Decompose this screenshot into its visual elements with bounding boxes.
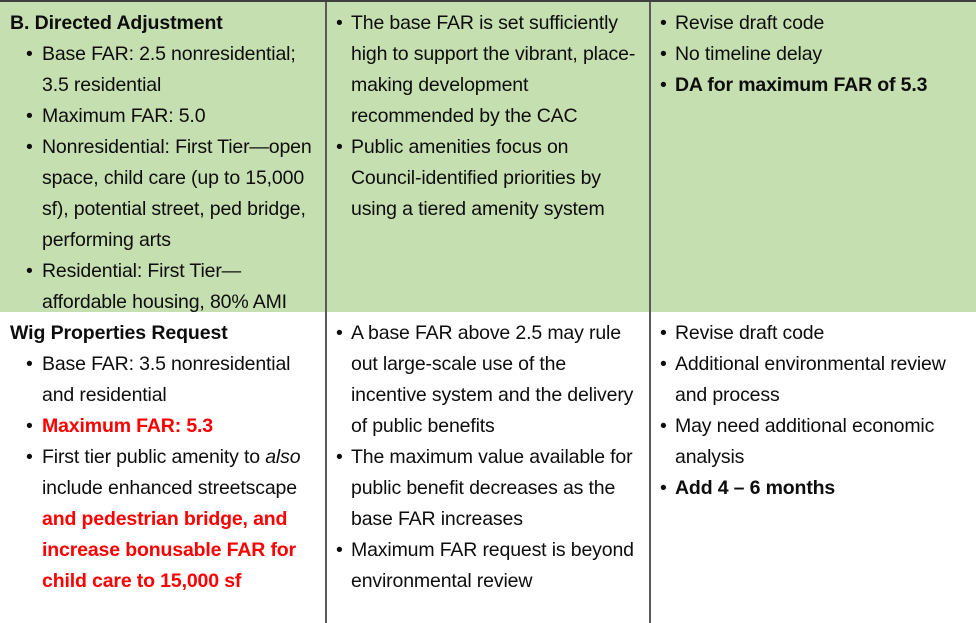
list-item-text: include enhanced streetscape xyxy=(42,477,297,499)
list-item: Nonresidential: First Tier—open space, c… xyxy=(8,132,315,256)
list-item-text: Maximum FAR: 5.0 xyxy=(42,105,205,127)
list-item-text: Maximum FAR: 5.3 xyxy=(42,415,213,437)
list-item: Maximum FAR request is beyond environmen… xyxy=(335,535,639,597)
list-item-text: Maximum FAR request is beyond environmen… xyxy=(351,539,634,592)
list-item-text: DA for maximum FAR of 5.3 xyxy=(675,74,927,96)
list-item: DA for maximum FAR of 5.3 xyxy=(659,70,966,101)
list-item-text: Residential: First Tier—affordable housi… xyxy=(42,260,287,312)
list-item: First tier public amenity to also includ… xyxy=(8,442,315,597)
list-item-text: First tier public amenity to xyxy=(42,446,265,468)
list-item: Add 4 – 6 months xyxy=(659,473,966,504)
list-item-text: Revise draft code xyxy=(675,12,824,34)
list-item-text: The base FAR is set sufficiently high to… xyxy=(351,12,635,127)
list-item-text: Add 4 – 6 months xyxy=(675,477,835,499)
list-item-text: May need additional economic analysis xyxy=(675,415,934,468)
table-row: Wig Properties RequestBase FAR: 3.5 nonr… xyxy=(0,312,976,623)
list-item: Maximum FAR: 5.3 xyxy=(8,411,315,442)
list-item: The base FAR is set sufficiently high to… xyxy=(335,8,639,132)
list-item-text: No timeline delay xyxy=(675,43,822,65)
list-item: Maximum FAR: 5.0 xyxy=(8,101,315,132)
list-item: Public amenities focus on Council-identi… xyxy=(335,132,639,225)
cell-heading: B. Directed Adjustment xyxy=(8,8,315,39)
list-item-text: Nonresidential: First Tier—open space, c… xyxy=(42,136,312,251)
bullet-list: The base FAR is set sufficiently high to… xyxy=(335,8,639,225)
bullet-list: Base FAR: 2.5 nonresidential; 3.5 reside… xyxy=(8,39,315,312)
list-item: Additional environmental review and proc… xyxy=(659,349,966,411)
list-item-text: Public amenities focus on Council-identi… xyxy=(351,136,605,220)
list-item: Base FAR: 3.5 nonresidential and residen… xyxy=(8,349,315,411)
table-row: B. Directed AdjustmentBase FAR: 2.5 nonr… xyxy=(0,2,976,312)
bullet-list: Base FAR: 3.5 nonresidential and residen… xyxy=(8,349,315,597)
list-item: Base FAR: 2.5 nonresidential; 3.5 reside… xyxy=(8,39,315,101)
list-item-text: and pedestrian bridge, and increase bonu… xyxy=(42,508,296,592)
list-item: May need additional economic analysis xyxy=(659,411,966,473)
list-item-text: Additional environmental review and proc… xyxy=(675,353,946,406)
list-item: Residential: First Tier—affordable housi… xyxy=(8,256,315,312)
list-item-text: A base FAR above 2.5 may rule out large-… xyxy=(351,322,633,437)
list-item-text: Revise draft code xyxy=(675,322,824,344)
bullet-list: Revise draft codeAdditional environmenta… xyxy=(659,318,966,504)
table-cell-implications: Revise draft codeAdditional environmenta… xyxy=(651,312,976,623)
list-item: The maximum value available for public b… xyxy=(335,442,639,535)
list-item: No timeline delay xyxy=(659,39,966,70)
cell-heading: Wig Properties Request xyxy=(8,318,315,349)
bullet-list: A base FAR above 2.5 may rule out large-… xyxy=(335,318,639,597)
bullet-list: Revise draft codeNo timeline delayDA for… xyxy=(659,8,966,101)
list-item-text: Base FAR: 3.5 nonresidential and residen… xyxy=(42,353,290,406)
table-cell-implications: Revise draft codeNo timeline delayDA for… xyxy=(651,2,976,312)
list-item: Revise draft code xyxy=(659,8,966,39)
list-item-text: Base FAR: 2.5 nonresidential; 3.5 reside… xyxy=(42,43,296,96)
list-item: A base FAR above 2.5 may rule out large-… xyxy=(335,318,639,442)
list-item-text: The maximum value available for public b… xyxy=(351,446,632,530)
table-cell-rationale: A base FAR above 2.5 may rule out large-… xyxy=(327,312,651,623)
list-item-text: also xyxy=(265,446,300,468)
table-cell-option: Wig Properties RequestBase FAR: 3.5 nonr… xyxy=(0,312,327,623)
comparison-table: B. Directed AdjustmentBase FAR: 2.5 nonr… xyxy=(0,0,976,623)
table-cell-option: B. Directed AdjustmentBase FAR: 2.5 nonr… xyxy=(0,2,327,312)
table-cell-rationale: The base FAR is set sufficiently high to… xyxy=(327,2,651,312)
list-item: Revise draft code xyxy=(659,318,966,349)
